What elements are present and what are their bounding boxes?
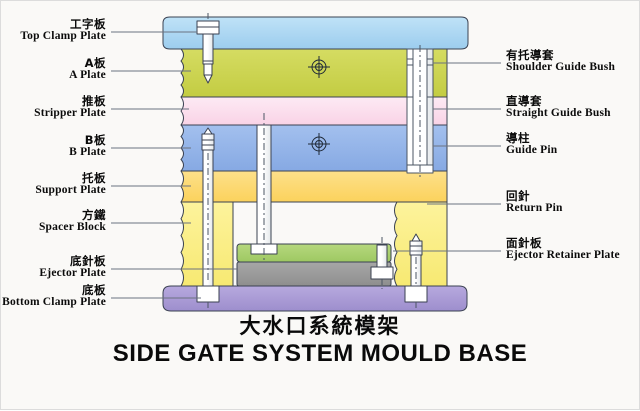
- title-english: SIDE GATE SYSTEM MOULD BASE: [1, 339, 639, 369]
- label-cn: 面針板: [506, 237, 620, 249]
- label-en: Spacer Block: [39, 221, 106, 233]
- label-support-plate[interactable]: 托板 Support Plate: [35, 172, 106, 196]
- label-ejector-plate[interactable]: 底針板 Ejector Plate: [39, 255, 106, 279]
- label-cn: 有托導套: [506, 49, 615, 61]
- label-return-pin[interactable]: 回針 Return Pin: [506, 190, 563, 214]
- label-en: Support Plate: [35, 184, 106, 196]
- label-shoulder-guide-bush[interactable]: 有托導套 Shoulder Guide Bush: [506, 49, 615, 73]
- label-cn: A板: [69, 57, 106, 69]
- label-cn: B板: [69, 134, 106, 146]
- label-en: Guide Pin: [506, 144, 557, 156]
- label-cn: 底針板: [39, 255, 106, 267]
- label-top-clamp-plate[interactable]: 工字板 Top Clamp Plate: [20, 18, 106, 42]
- label-en: A Plate: [69, 69, 106, 81]
- label-a-plate[interactable]: A板 A Plate: [69, 57, 106, 81]
- label-en: Shoulder Guide Bush: [506, 61, 615, 73]
- label-b-plate[interactable]: B板 B Plate: [69, 134, 106, 158]
- label-bottom-clamp-plate[interactable]: 底板 Bottom Clamp Plate: [2, 284, 106, 308]
- label-cn: 托板: [35, 172, 106, 184]
- label-cn: 底板: [2, 284, 106, 296]
- label-stripper-plate[interactable]: 推板 Stripper Plate: [34, 95, 106, 119]
- label-en: Top Clamp Plate: [20, 30, 106, 42]
- label-cn: 直導套: [506, 95, 611, 107]
- title-chinese: 大水口系統模架: [1, 313, 639, 339]
- label-en: Stripper Plate: [34, 107, 106, 119]
- label-en: Bottom Clamp Plate: [2, 296, 106, 308]
- label-cn: 方鐵: [39, 209, 106, 221]
- label-guide-pin[interactable]: 導柱 Guide Pin: [506, 132, 557, 156]
- label-spacer-block[interactable]: 方鐵 Spacer Block: [39, 209, 106, 233]
- label-straight-guide-bush[interactable]: 直導套 Straight Guide Bush: [506, 95, 611, 119]
- label-cn: 工字板: [20, 18, 106, 30]
- label-en: B Plate: [69, 146, 106, 158]
- label-en: Ejector Retainer Plate: [506, 249, 620, 261]
- label-cn: 推板: [34, 95, 106, 107]
- plate-ejector: [237, 262, 391, 286]
- plate-support: [181, 171, 447, 202]
- label-cn: 導柱: [506, 132, 557, 144]
- label-en: Return Pin: [506, 202, 563, 214]
- diagram-page: 工字板 Top Clamp Plate A板 A Plate 推板 Stripp…: [0, 0, 640, 410]
- label-cn: 回針: [506, 190, 563, 202]
- label-ejector-retainer-plate[interactable]: 面針板 Ejector Retainer Plate: [506, 237, 620, 261]
- label-en: Ejector Plate: [39, 267, 106, 279]
- diagram-title: 大水口系統模架 SIDE GATE SYSTEM MOULD BASE: [1, 313, 639, 369]
- label-en: Straight Guide Bush: [506, 107, 611, 119]
